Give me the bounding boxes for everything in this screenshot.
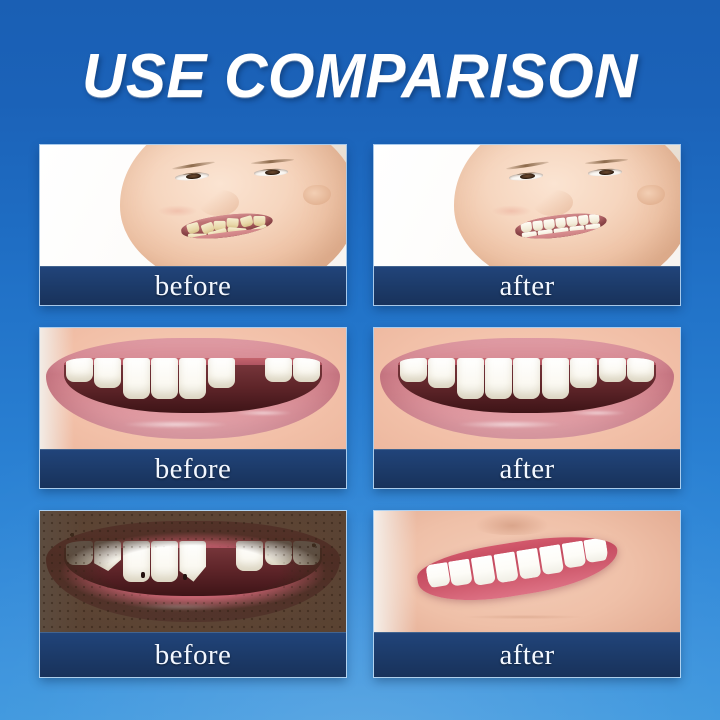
tooth	[542, 358, 569, 399]
tooth	[94, 358, 121, 388]
tooth	[448, 558, 473, 587]
caption-label: after	[499, 455, 554, 484]
caption-label: before	[155, 641, 231, 670]
photo-row1-after	[374, 145, 680, 266]
upper-teeth-group	[398, 358, 657, 399]
tooth	[470, 555, 496, 586]
tooth	[485, 358, 512, 399]
bright-smile-illustration	[374, 511, 680, 632]
missing-tooth-gap	[236, 358, 263, 399]
tooth	[493, 551, 519, 584]
caption-bar-row1-before: before	[40, 266, 346, 305]
panel-row1-after[interactable]: after	[374, 145, 680, 305]
cheek-shading	[150, 203, 205, 219]
tooth	[627, 358, 654, 382]
panel-row1-before[interactable]: before	[40, 145, 346, 305]
tooth	[123, 358, 150, 399]
tooth	[584, 537, 609, 563]
background-fade	[374, 511, 417, 632]
tooth	[66, 358, 93, 382]
tooth	[293, 358, 320, 382]
tooth	[425, 562, 450, 588]
lip-highlight	[222, 409, 304, 417]
photo-row3-before	[40, 511, 346, 632]
chin-shading	[441, 614, 606, 620]
mouth-cavity	[398, 358, 657, 413]
caption-bar-row3-after: after	[374, 632, 680, 677]
tooth	[428, 358, 455, 388]
bearded-man-damaged-teeth-illustration	[40, 511, 346, 632]
missing-tooth-illustration	[40, 328, 346, 449]
woman-crooked-teeth-illustration	[40, 145, 346, 266]
tooth	[151, 358, 178, 399]
tooth	[561, 541, 586, 570]
mouth-cavity	[64, 358, 323, 413]
lip-highlight	[99, 419, 252, 430]
upper-teeth-group	[64, 358, 323, 399]
poster-title-wrap: USE COMPARISON	[0, 38, 720, 112]
caption-bar-row2-after: after	[374, 449, 680, 488]
page-title: USE COMPARISON	[82, 39, 638, 111]
lip-highlight	[556, 409, 638, 417]
tooth	[208, 358, 235, 388]
caption-label: before	[155, 455, 231, 484]
complete-teeth-illustration	[374, 328, 680, 449]
beard-stubble-texture	[40, 511, 346, 632]
caption-bar-row1-after: after	[374, 266, 680, 305]
photo-row2-after	[374, 328, 680, 449]
caption-label: after	[499, 272, 554, 301]
photo-row2-before	[40, 328, 346, 449]
caption-label: after	[499, 641, 554, 670]
tooth	[265, 358, 292, 382]
caption-label: before	[155, 272, 231, 301]
tooth	[538, 544, 564, 575]
tooth	[570, 358, 597, 388]
caption-bar-row2-before: before	[40, 449, 346, 488]
lip-highlight	[433, 419, 586, 430]
panel-row2-after[interactable]: after	[374, 328, 680, 488]
tooth	[599, 358, 626, 382]
caption-bar-row3-before: before	[40, 632, 346, 677]
comparison-grid: before	[40, 145, 680, 677]
panel-row2-before[interactable]: before	[40, 328, 346, 488]
tooth	[457, 358, 484, 399]
tooth	[179, 358, 206, 399]
woman-white-teeth-illustration	[374, 145, 680, 266]
tooth	[400, 358, 427, 382]
photo-row3-after	[374, 511, 680, 632]
photo-row1-before	[40, 145, 346, 266]
cheek-shading	[484, 203, 539, 219]
panel-row3-before[interactable]: before	[40, 511, 346, 677]
panel-row3-after[interactable]: after	[374, 511, 680, 677]
tooth	[513, 358, 540, 399]
comparison-poster: USE COMPARISON	[0, 0, 720, 720]
tooth	[516, 548, 542, 581]
